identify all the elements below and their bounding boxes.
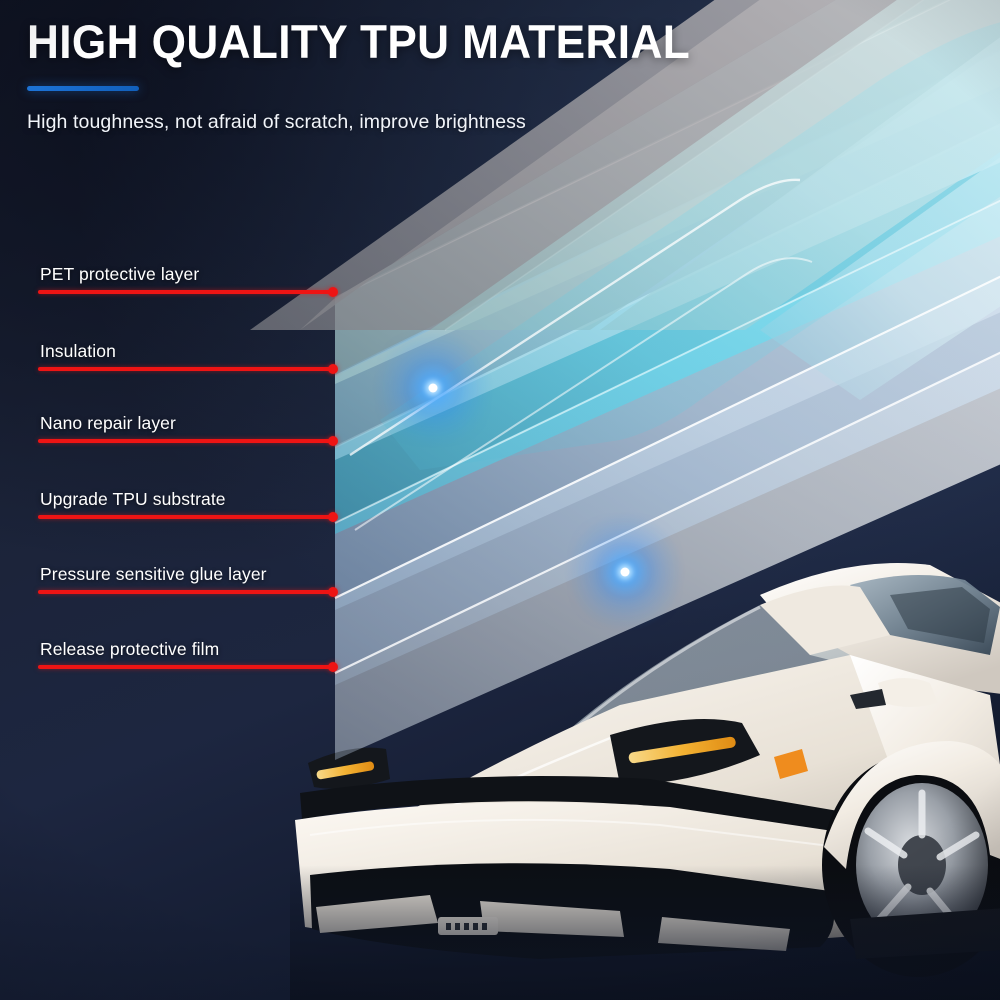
callout-label: Nano repair layer <box>40 413 176 434</box>
callout-leader-line <box>38 515 333 519</box>
callout-label: Upgrade TPU substrate <box>40 489 226 510</box>
callout-label: Pressure sensitive glue layer <box>40 564 267 585</box>
callout-list: PET protective layerInsulationNano repai… <box>0 0 1000 1000</box>
callout-endpoint-dot <box>328 512 338 522</box>
callout-endpoint-dot <box>328 364 338 374</box>
callout-endpoint-dot <box>328 662 338 672</box>
infographic-canvas: HIGH QUALITY TPU MATERIAL High toughness… <box>0 0 1000 1000</box>
callout-leader-line <box>38 665 333 669</box>
callout-label: Insulation <box>40 341 116 362</box>
callout-leader-line <box>38 290 333 294</box>
callout-label: PET protective layer <box>40 264 199 285</box>
callout-label: Release protective film <box>40 639 219 660</box>
callout-leader-line <box>38 439 333 443</box>
callout-endpoint-dot <box>328 587 338 597</box>
callout-leader-line <box>38 590 333 594</box>
callout-endpoint-dot <box>328 436 338 446</box>
callout-leader-line <box>38 367 333 371</box>
callout-endpoint-dot <box>328 287 338 297</box>
